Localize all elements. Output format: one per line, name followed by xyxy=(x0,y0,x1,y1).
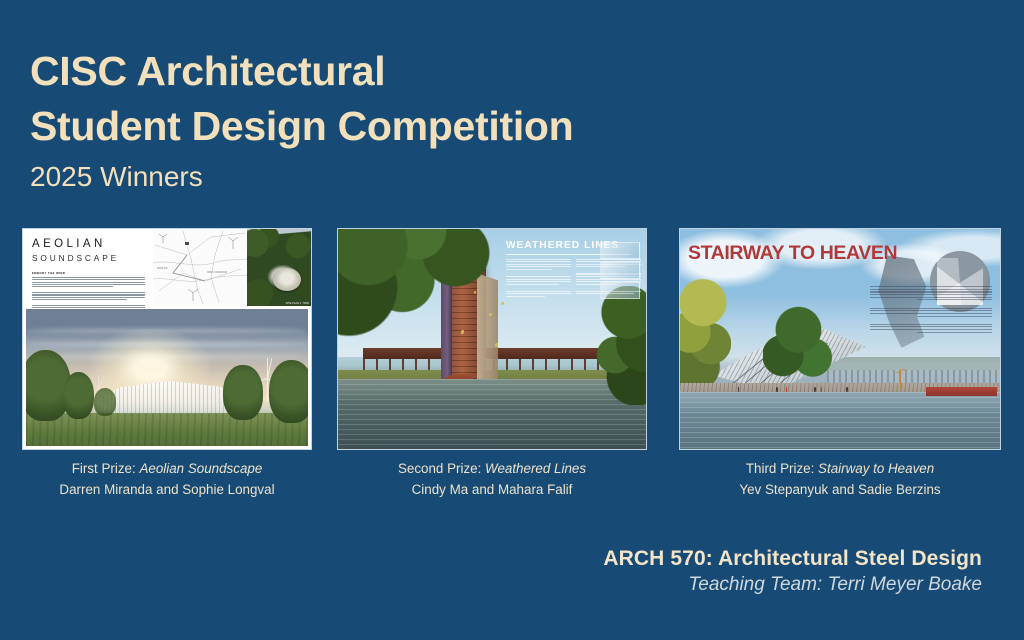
winning-posters-row: AEOLIAN SOUNDSCAPE EMBODY THE WIND xyxy=(0,228,1024,453)
falling-leaf xyxy=(495,343,498,347)
cloud-band xyxy=(26,328,308,333)
poster2-column-left xyxy=(506,259,571,299)
cloud-band xyxy=(26,342,308,346)
poster1-title-column: AEOLIAN SOUNDSCAPE EMBODY THE WIND xyxy=(23,229,153,306)
poster-frame: STAIRWAY TO HEAVEN xyxy=(679,228,1001,450)
prize-label: Second Prize: xyxy=(398,461,481,476)
caption-authors: Cindy Ma and Mahara Falif xyxy=(337,480,647,501)
poster1-credit-note: SITE PLAN 1 : 5000 xyxy=(286,302,309,305)
falling-leaf xyxy=(489,313,492,317)
detail-thumbnail xyxy=(600,242,640,259)
poster-thumbnail-aeolian-soundscape[interactable]: AEOLIAN SOUNDSCAPE EMBODY THE WIND xyxy=(22,228,312,450)
poster1-body-text-block xyxy=(32,277,145,313)
poster-frame: AEOLIAN SOUNDSCAPE EMBODY THE WIND xyxy=(22,228,312,450)
tree xyxy=(63,372,94,419)
project-title: Weathered Lines xyxy=(485,461,586,476)
falling-leaf xyxy=(461,330,464,334)
course-footer: ARCH 570: Architectural Steel Design Tea… xyxy=(603,547,982,596)
poster1-title-line-1: AEOLIAN xyxy=(32,238,145,251)
page-subtitle: 2025 Winners xyxy=(30,159,573,194)
poster1-title-line-2: SOUNDSCAPE xyxy=(32,253,145,263)
project-title: Aeolian Soundscape xyxy=(139,461,262,476)
prize-label: Third Prize: xyxy=(746,461,814,476)
poster1-header-band: AEOLIAN SOUNDSCAPE EMBODY THE WIND xyxy=(23,229,311,306)
page-title-line-1: CISC Architectural xyxy=(30,44,573,99)
poster1-main-rendering xyxy=(26,309,308,446)
poster3-main-rendering: STAIRWAY TO HEAVEN xyxy=(680,229,1000,449)
project-title: Stairway to Heaven xyxy=(818,461,934,476)
caption-authors: Darren Miranda and Sophie Longval xyxy=(22,480,312,501)
detail-thumbnail xyxy=(600,262,640,279)
caption-title-line: First Prize: Aeolian Soundscape xyxy=(22,459,312,480)
page-heading: CISC Architectural Student Design Compet… xyxy=(30,44,573,194)
svg-text:PARK RD: PARK RD xyxy=(157,267,168,270)
poster1-aerial-view: SITE PLAN 1 : 5000 xyxy=(247,229,311,306)
svg-text:WIND CORRIDOR: WIND CORRIDOR xyxy=(207,271,227,274)
poster2-detail-thumbnails xyxy=(600,242,640,302)
poster1-site-plan-diagram: PARK RD WIND CORRIDOR xyxy=(153,229,247,306)
ground-plane xyxy=(26,413,308,446)
caption-authors: Yev Stepanyuk and Sadie Berzins xyxy=(679,480,1001,501)
people-on-shore xyxy=(680,387,1000,398)
poster2-main-rendering: WEATHERED LINES xyxy=(338,229,646,449)
poster1-kicker: EMBODY THE WIND xyxy=(32,272,145,275)
harbour-water xyxy=(680,392,1000,449)
course-title: ARCH 570: Architectural Steel Design xyxy=(603,547,982,571)
harbour-crane xyxy=(891,365,910,389)
foreground-tree-canopy xyxy=(338,229,517,339)
poster-thumbnail-weathered-lines[interactable]: WEATHERED LINES xyxy=(337,228,647,450)
poster-thumbnail-stairway-to-heaven[interactable]: STAIRWAY TO HEAVEN xyxy=(679,228,1001,450)
caption-third-prize: Third Prize: Stairway to Heaven Yev Step… xyxy=(679,459,1001,501)
detail-thumbnail xyxy=(600,282,640,299)
foreground-tree-left xyxy=(680,273,731,387)
tree xyxy=(94,388,117,415)
tree xyxy=(223,365,262,420)
caption-title-line: Third Prize: Stairway to Heaven xyxy=(679,459,1001,480)
right-tree-cluster xyxy=(572,286,646,405)
teaching-team: Teaching Team: Terri Meyer Boake xyxy=(603,574,982,596)
poster3-description-text xyxy=(870,286,992,334)
caption-second-prize: Second Prize: Weathered Lines Cindy Ma a… xyxy=(337,459,647,501)
tree xyxy=(269,360,308,423)
poster-frame: WEATHERED LINES xyxy=(337,228,647,450)
page-title-line-2: Student Design Competition xyxy=(30,99,573,154)
poster-captions-row: First Prize: Aeolian Soundscape Darren M… xyxy=(0,459,1024,503)
caption-title-line: Second Prize: Weathered Lines xyxy=(337,459,647,480)
poster3-board-title: STAIRWAY TO HEAVEN xyxy=(688,242,897,265)
prize-label: First Prize: xyxy=(72,461,136,476)
caption-first-prize: First Prize: Aeolian Soundscape Darren M… xyxy=(22,459,312,501)
